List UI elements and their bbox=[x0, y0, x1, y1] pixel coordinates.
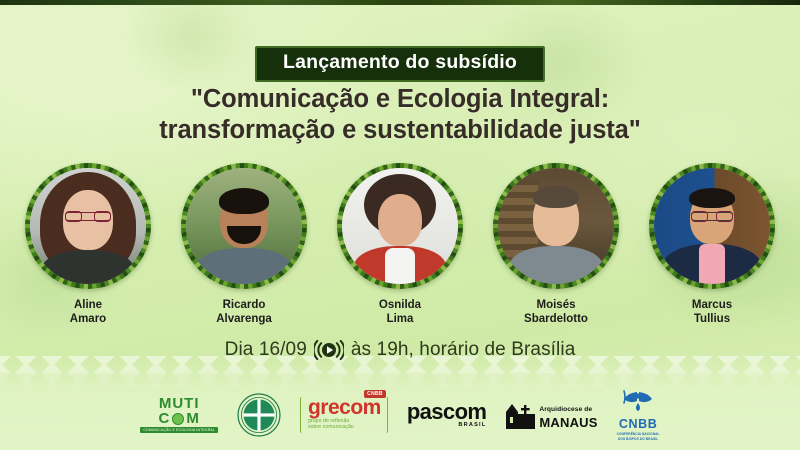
partner-logos-bar: MUTI C M COMUNICAÇÃO E ECOLOGIA INTEGRAL bbox=[0, 389, 800, 441]
usccb-seal bbox=[237, 393, 281, 437]
speaker-name: Osnilda Lima bbox=[330, 298, 470, 327]
event-dateline: Dia 16/09 às 19h, horário de Brasília bbox=[0, 339, 800, 361]
dateline-time: às 19h, horário de Brasília bbox=[351, 339, 576, 361]
cnbb-wordmark: CNBB bbox=[619, 418, 658, 431]
avatar bbox=[342, 168, 458, 284]
cnbb-subtitle-line-2: DOS BISPOS DO BRASIL bbox=[618, 437, 658, 441]
cnbb-logo: CNBB CONFERÊNCIA NACIONAL DOS BISPOS DO … bbox=[617, 389, 660, 441]
speaker-card: Moisés Sbardelotto bbox=[486, 163, 626, 327]
muticom-word-bottom-end: M bbox=[186, 412, 200, 426]
speaker-last-name: Amaro bbox=[18, 312, 158, 326]
speaker-card: Marcus Tullius bbox=[642, 163, 782, 327]
speaker-first-name: Ricardo bbox=[174, 298, 314, 312]
subtitle-banner: Lançamento do subsídio bbox=[255, 46, 545, 82]
speakers-row: Aline Amaro Ricardo Alvarenga bbox=[0, 163, 800, 327]
poster-canvas: Lançamento do subsídio "Comunicação e Ec… bbox=[0, 0, 800, 450]
title-line-2: transformação e sustentabilidade justa" bbox=[0, 115, 800, 146]
speaker-card: Ricardo Alvarenga bbox=[174, 163, 314, 327]
page-title: "Comunicação e Ecologia Integral: transf… bbox=[0, 84, 800, 146]
portrait-ring bbox=[649, 163, 775, 289]
broadcast-icon bbox=[314, 339, 344, 361]
speaker-first-name: Osnilda bbox=[330, 298, 470, 312]
pascom-wordmark: pascom bbox=[407, 402, 487, 422]
speaker-name: Moisés Sbardelotto bbox=[486, 298, 626, 327]
portrait-ring bbox=[337, 163, 463, 289]
speaker-last-name: Lima bbox=[330, 312, 470, 326]
muticom-dot-icon bbox=[172, 413, 184, 425]
speaker-last-name: Tullius bbox=[642, 312, 782, 326]
cnbb-subtitle-line-1: CONFERÊNCIA NACIONAL bbox=[617, 432, 660, 436]
portrait-ring bbox=[493, 163, 619, 289]
arquidiocese-manaus-logo: Arquidiocese de MANAUS bbox=[505, 399, 597, 432]
banner-label: Lançamento do subsídio bbox=[283, 53, 517, 73]
avatar bbox=[186, 168, 302, 284]
speaker-last-name: Sbardelotto bbox=[486, 312, 626, 326]
speaker-card: Aline Amaro bbox=[18, 163, 158, 327]
grecom-cnbb-badge: CNBB bbox=[364, 390, 386, 398]
muticom-word-top: MUTI bbox=[159, 397, 200, 411]
speaker-last-name: Alvarenga bbox=[174, 312, 314, 326]
avatar bbox=[30, 168, 146, 284]
speaker-name: Ricardo Alvarenga bbox=[174, 298, 314, 327]
speaker-first-name: Marcus bbox=[642, 298, 782, 312]
muticom-logo: MUTI C M COMUNICAÇÃO E ECOLOGIA INTEGRAL bbox=[140, 397, 218, 434]
muticom-tagline: COMUNICAÇÃO E ECOLOGIA INTEGRAL bbox=[140, 427, 218, 433]
dateline-date: Dia 16/09 bbox=[225, 339, 307, 361]
avatar bbox=[498, 168, 614, 284]
grecom-bracket-frame bbox=[300, 396, 388, 434]
manaus-line-1: Arquidiocese de bbox=[539, 406, 592, 413]
speaker-name: Marcus Tullius bbox=[642, 298, 782, 327]
speaker-first-name: Moisés bbox=[486, 298, 626, 312]
portrait-ring bbox=[181, 163, 307, 289]
muticom-word-bottom: C bbox=[159, 412, 171, 426]
top-dark-strip bbox=[0, 0, 800, 5]
portrait-ring bbox=[25, 163, 151, 289]
church-icon bbox=[505, 400, 535, 430]
speaker-card: Osnilda Lima bbox=[330, 163, 470, 327]
speaker-name: Aline Amaro bbox=[18, 298, 158, 327]
pascom-logo: pascom BRASIL bbox=[407, 402, 487, 429]
avatar bbox=[654, 168, 770, 284]
cnbb-leaf-drop-icon bbox=[618, 389, 658, 417]
manaus-line-2: MANAUS bbox=[539, 415, 597, 430]
title-line-1: "Comunicação e Ecologia Integral: bbox=[191, 85, 609, 113]
speaker-first-name: Aline bbox=[18, 298, 158, 312]
grecom-logo: CNBB grecom grupo de reflexão sobre comu… bbox=[300, 396, 388, 434]
